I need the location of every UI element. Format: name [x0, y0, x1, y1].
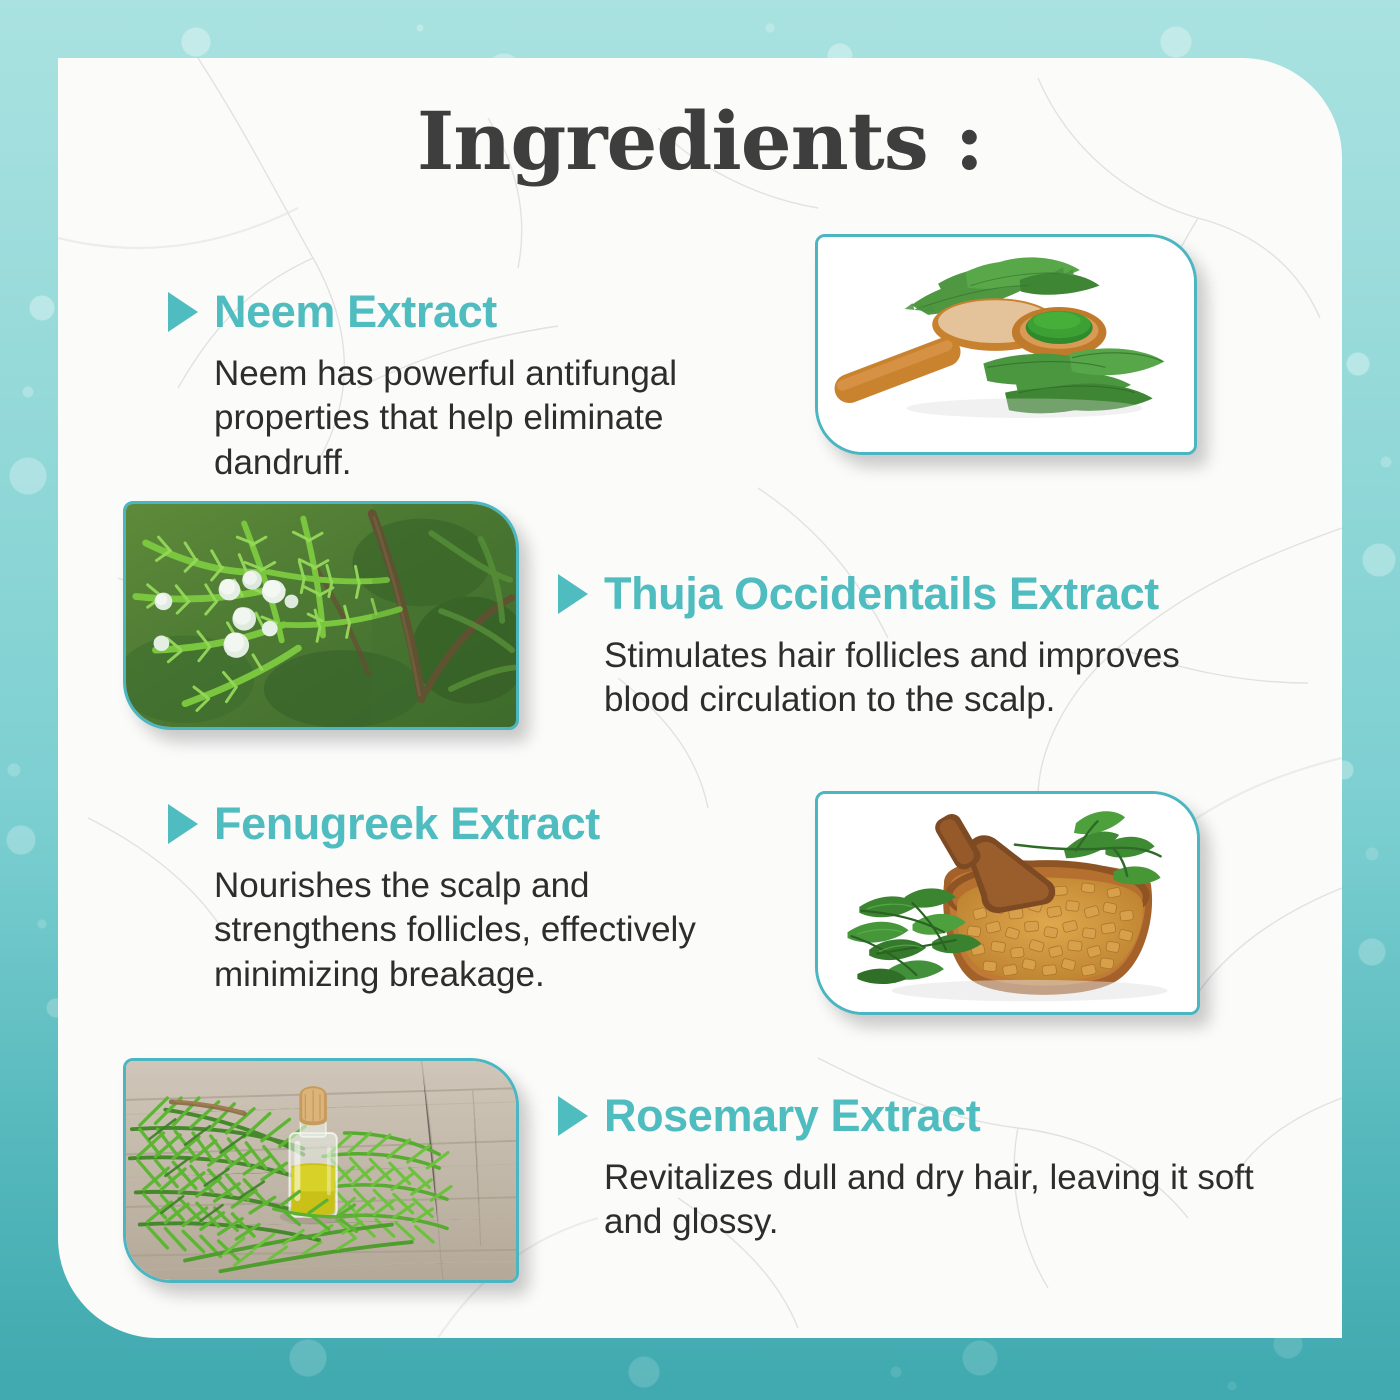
rosemary-heading-label: Rosemary Extract [604, 1090, 980, 1142]
rosemary-text-block: Rosemary Extract Revitalizes dull and dr… [558, 1090, 1258, 1245]
rosemary-heading: Rosemary Extract [558, 1090, 1258, 1142]
neem-text-block: Neem Extract Neem has powerful antifunga… [168, 286, 728, 485]
neem-description: Neem has powerful antifungal properties … [168, 352, 728, 485]
ingredients-card: Ingredients : Neem Extract Neem has powe… [58, 58, 1342, 1338]
fenugreek-heading: Fenugreek Extract [168, 798, 768, 850]
triangle-right-icon [168, 804, 198, 844]
neem-heading: Neem Extract [168, 286, 728, 338]
triangle-right-icon [558, 1096, 588, 1136]
fenugreek-text-block: Fenugreek Extract Nourishes the scalp an… [168, 798, 768, 997]
neem-heading-label: Neem Extract [214, 286, 497, 338]
thuja-occidentails-extract-photo [123, 501, 519, 730]
triangle-right-icon [558, 574, 588, 614]
rosemary-extract-photo [123, 1058, 519, 1283]
fenugreek-description: Nourishes the scalp and strengthens foll… [168, 864, 768, 997]
neem-extract-photo [815, 234, 1197, 455]
thuja-heading: Thuja Occidentails Extract [558, 568, 1258, 620]
thuja-text-block: Thuja Occidentails Extract Stimulates ha… [558, 568, 1258, 723]
page-title: Ingredients : [58, 94, 1342, 188]
fenugreek-heading-label: Fenugreek Extract [214, 798, 600, 850]
thuja-heading-label: Thuja Occidentails Extract [604, 568, 1159, 620]
fenugreek-extract-photo [815, 791, 1200, 1015]
rosemary-description: Revitalizes dull and dry hair, leaving i… [558, 1156, 1258, 1245]
triangle-right-icon [168, 292, 198, 332]
thuja-description: Stimulates hair follicles and improves b… [558, 634, 1258, 723]
